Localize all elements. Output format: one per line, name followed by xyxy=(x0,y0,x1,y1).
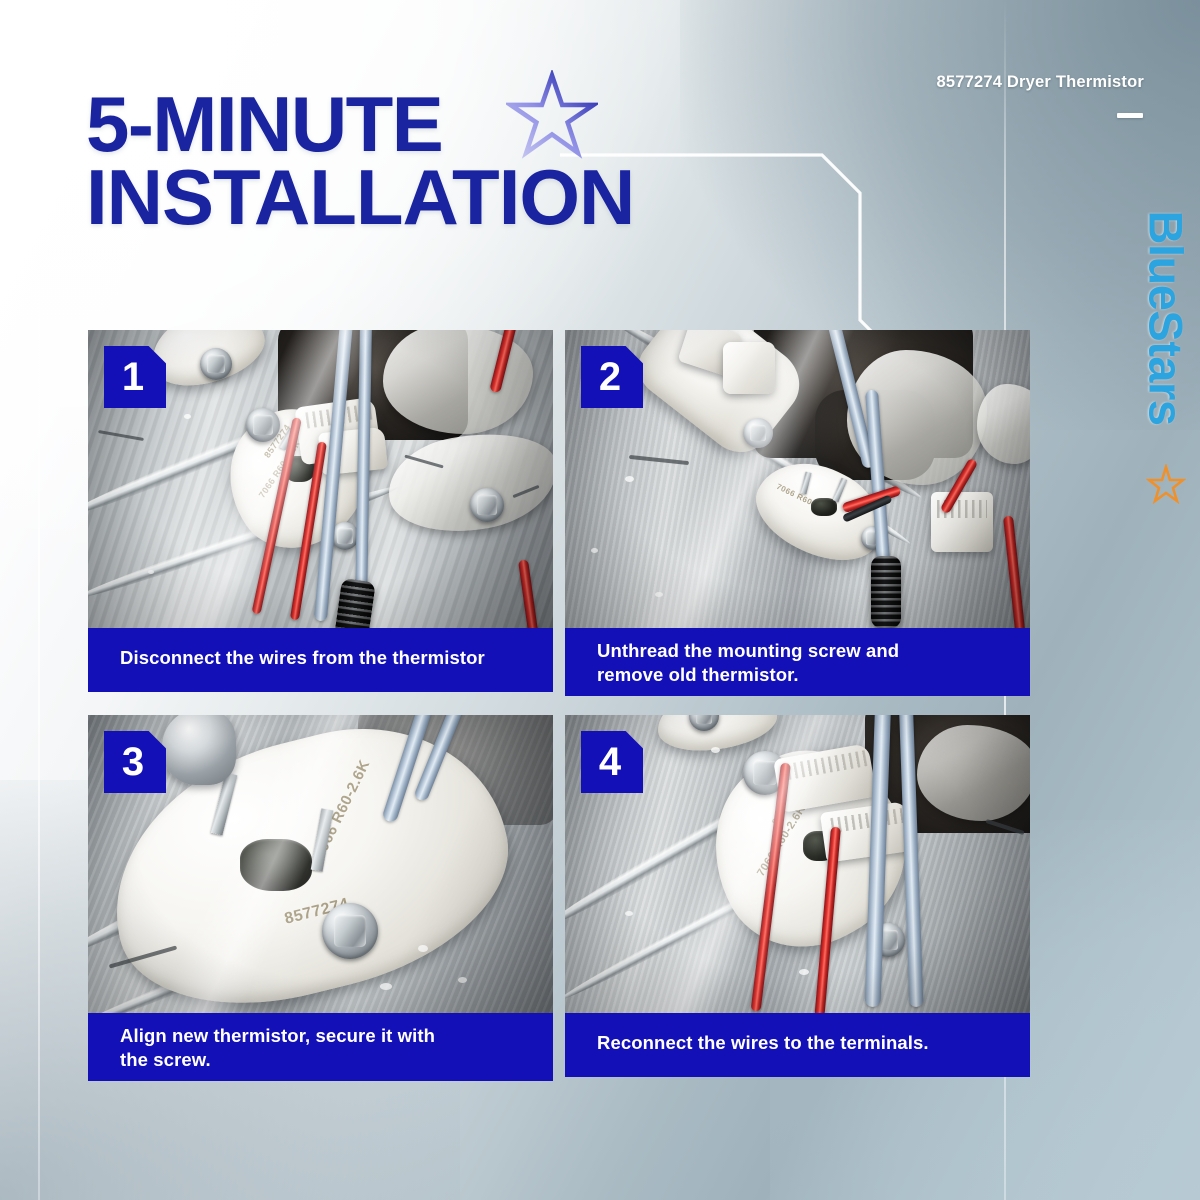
caption-line: the screw. xyxy=(120,1048,553,1072)
step-panel-1: 7066 R60-2.6K 8577274 xyxy=(88,330,553,692)
caption-line: Align new thermistor, secure it with xyxy=(120,1024,553,1048)
step-panel-4: 7066 R60-2.6K 8577274 xyxy=(565,715,1030,1077)
step-photo-4: 7066 R60-2.6K 8577274 xyxy=(565,715,1030,1013)
caption-line: Disconnect the wires from the thermistor xyxy=(120,646,553,670)
caption-line: Reconnect the wires to the terminals. xyxy=(597,1031,1030,1055)
star-icon xyxy=(1146,464,1186,504)
step-number-badge: 2 xyxy=(581,346,643,408)
step-number-badge: 4 xyxy=(581,731,643,793)
brand-logo: BlueStars xyxy=(1138,168,1194,468)
caption-line: Unthread the mounting screw and xyxy=(597,639,1030,663)
step-caption-3: Align new thermistor, secure it with the… xyxy=(88,1013,553,1081)
steps-grid: 7066 R60-2.6K 8577274 xyxy=(88,330,1033,1100)
step-panel-2: 7066 R60 xyxy=(565,330,1030,696)
step-panel-3: 7066 R60-2.6K 8577274 xyxy=(88,715,553,1081)
caption-line: remove old thermistor. xyxy=(597,663,1030,687)
step-photo-3: 7066 R60-2.6K 8577274 xyxy=(88,715,553,1013)
step-caption-1: Disconnect the wires from the thermistor xyxy=(88,628,553,692)
decorative-vertical-line-left xyxy=(38,0,40,1200)
infographic-root: 8577274 Dryer Thermistor 5-MINUTE INSTAL… xyxy=(0,0,1200,1200)
star-icon xyxy=(506,70,598,162)
page-title: 5-MINUTE INSTALLATION xyxy=(86,88,846,235)
step-photo-2: 7066 R60 xyxy=(565,330,1030,628)
step-caption-2: Unthread the mounting screw and remove o… xyxy=(565,628,1030,696)
step-caption-4: Reconnect the wires to the terminals. xyxy=(565,1013,1030,1077)
brand-name: BlueStars xyxy=(1139,211,1194,426)
step-number-badge: 3 xyxy=(104,731,166,793)
step-number-badge: 1 xyxy=(104,346,166,408)
headline-line-2: INSTALLATION xyxy=(86,161,846,234)
dash-icon xyxy=(1117,113,1143,118)
product-title: 8577274 Dryer Thermistor xyxy=(937,73,1145,92)
step-photo-1: 7066 R60-2.6K 8577274 xyxy=(88,330,553,628)
